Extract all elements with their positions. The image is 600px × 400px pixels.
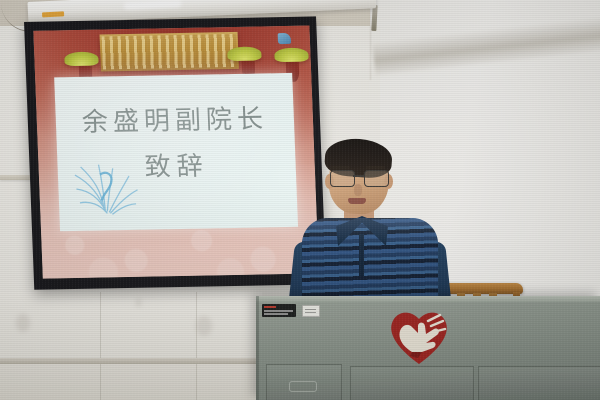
podium[interactable] xyxy=(256,296,600,400)
podium-panel-right[interactable] xyxy=(478,366,600,400)
wall-smudge xyxy=(16,314,30,332)
asset-tag-dark xyxy=(262,304,296,317)
gold-lotus-ornament-far-right xyxy=(274,48,309,63)
blue-bamboo-graphic xyxy=(72,160,144,217)
gold-lotus-ornament-right xyxy=(227,46,262,61)
podium-left-edge xyxy=(256,296,259,400)
projection-screen: 余盛明副院长 致辞 xyxy=(24,16,326,289)
podium-top-surface xyxy=(256,296,600,302)
photo-scene: 余盛明副院长 致辞 xyxy=(0,0,600,400)
heart-with-hand-logo xyxy=(388,308,450,366)
gold-plaque-header xyxy=(100,32,239,72)
asset-tag-line xyxy=(305,312,316,313)
wall-smudge xyxy=(196,316,212,336)
plaque-pattern xyxy=(102,34,237,70)
asset-tag-line xyxy=(264,310,293,312)
wall-corner-edge xyxy=(370,0,371,80)
podium-panel-left[interactable] xyxy=(266,364,342,400)
mouth xyxy=(348,198,366,204)
slide-content-panel: 余盛明副院长 致辞 xyxy=(54,73,297,231)
wall-seam xyxy=(100,364,101,400)
whiteboard-lower-wall xyxy=(0,364,262,400)
wall-seam xyxy=(196,364,197,400)
eyebrow-left xyxy=(331,166,350,169)
wall-smudge xyxy=(136,298,141,307)
asset-tag-line xyxy=(264,313,288,315)
shoulder-highlight xyxy=(302,218,438,244)
blue-corner-icon xyxy=(277,33,290,44)
gold-lotus-ornament-left xyxy=(65,52,100,67)
asset-tag-dark-header xyxy=(264,306,276,308)
roller-highlight xyxy=(124,0,182,10)
podium-panel-handle[interactable] xyxy=(289,381,317,392)
lens-right xyxy=(364,170,389,187)
lens-left xyxy=(330,170,355,187)
eyebrow-right xyxy=(366,166,385,169)
projection-surface: 余盛明副院长 致辞 xyxy=(33,26,319,279)
roller-warning-label xyxy=(42,11,64,17)
whiteboard-seam xyxy=(100,292,101,358)
podium-panel-center[interactable] xyxy=(350,366,474,400)
asset-tag-white xyxy=(302,305,320,317)
glasses-bridge xyxy=(353,175,364,177)
eyeglasses-icon xyxy=(328,170,390,185)
asset-tag-line xyxy=(305,309,316,310)
slide-title-text: 余盛明副院长 xyxy=(65,98,285,139)
nose xyxy=(354,184,362,196)
